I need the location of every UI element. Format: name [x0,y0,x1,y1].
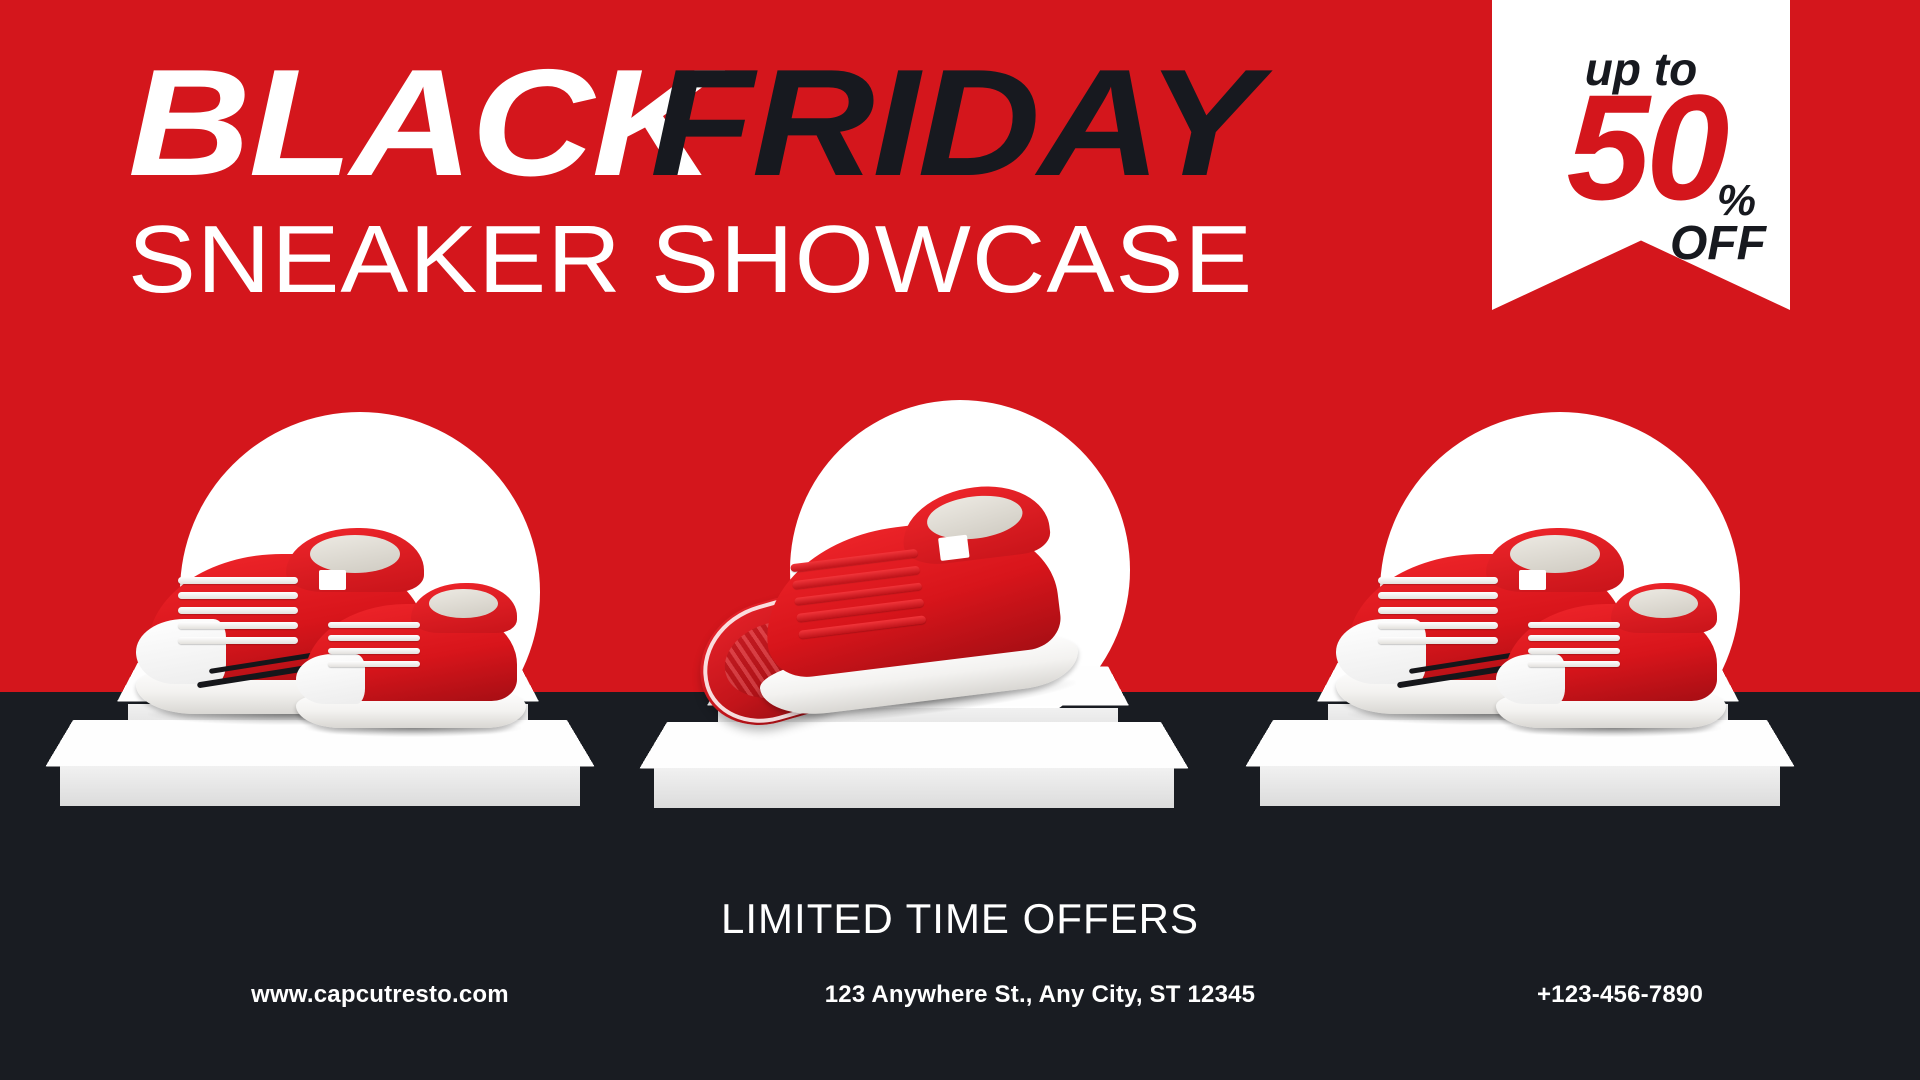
footer-address: 123 Anywhere St., Any City, ST 12345 [760,981,1320,1009]
tagline: LIMITED TIME OFFERS [0,895,1920,943]
product-group-center [640,400,1280,870]
product-group-right [1240,412,1880,882]
headline-word-black: BLACK [128,51,713,195]
product-group-left [40,412,680,882]
footer-phone[interactable]: +123-456-7890 [1320,981,1920,1009]
headline-word-friday: FRIDAY [650,51,1258,195]
subtitle: SNEAKER SHOWCASE [128,212,1548,308]
black-friday-banner: BLACKFRIDAY SNEAKER SHOWCASE up to 50 % … [0,0,1920,1080]
footer-contact-bar: www.capcutresto.com 123 Anywhere St., An… [0,975,1920,1015]
sneaker-center-main [738,473,1081,720]
footer-website[interactable]: www.capcutresto.com [0,981,760,1009]
sneaker-left-front [296,580,526,728]
headline: BLACKFRIDAY [128,48,1458,198]
sneaker-right-front [1496,580,1726,728]
